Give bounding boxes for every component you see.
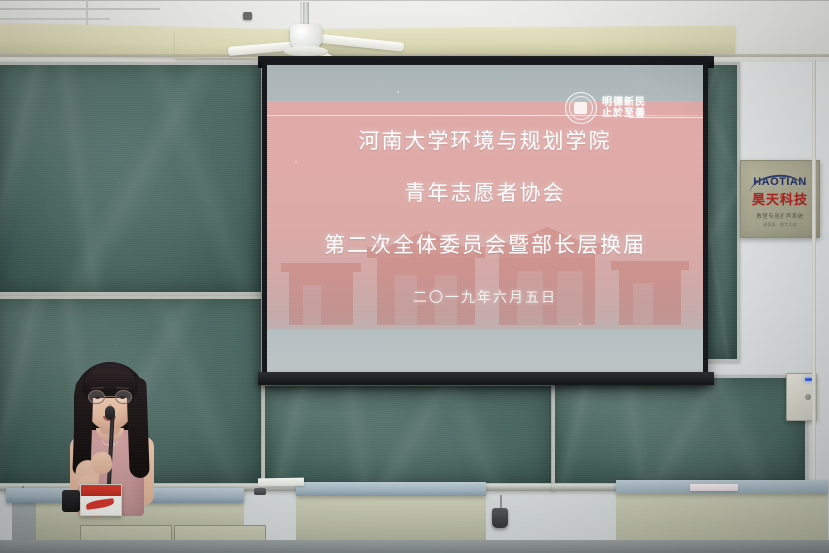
slide-date-line: 二〇一九年六月五日 [267, 287, 703, 307]
chalkboard-lower-middle [262, 383, 554, 486]
speaker-subtitle: 教室专用扩声系统 [756, 212, 803, 220]
ceiling-rail [0, 8, 160, 10]
slide-event-line: 第二次全体委员会暨部长层换届 [267, 229, 703, 259]
university-seal-icon [565, 92, 597, 124]
motto-line-2: 止於至善 [602, 108, 646, 119]
projection-screen-frame: 明德新民 止於至善 河南大学环境与规划学院 青年志愿者协会 第二次全体委员会暨部… [262, 60, 708, 385]
motto-line-1: 明德新民 [602, 97, 646, 108]
eyeglasses-icon [88, 390, 132, 404]
chalk-smudges [265, 386, 551, 483]
lectern-secondary-top [296, 482, 486, 496]
ceiling-sensor-icon [243, 12, 252, 20]
eye-left [95, 396, 100, 399]
microphone-head-icon [105, 406, 115, 420]
name-card-red-band [81, 485, 121, 496]
chalkboard-lower-right [552, 375, 808, 486]
lens-right [115, 390, 132, 404]
wall-speaker-haotian: HAOTIAN 昊天科技 教室专用扩声系统 高保真 · 数字功放 [740, 160, 820, 238]
projected-slide: 明德新民 止於至善 河南大学环境与规划学院 青年志愿者协会 第二次全体委员会暨部… [267, 65, 703, 377]
chalkboard-eraser-icon[interactable] [492, 508, 508, 528]
eyebrow-left [91, 387, 104, 390]
floor-strip [0, 540, 829, 553]
ceiling-rail-secondary [0, 18, 110, 20]
paper-stack[interactable] [258, 478, 304, 487]
eye-right [120, 396, 125, 399]
slide-gray-band-bottom [267, 329, 703, 377]
speaker-fine-print: 高保真 · 数字功放 [763, 222, 797, 228]
microphone-base-unit [62, 490, 80, 512]
slide-text-block: 河南大学环境与规划学院 青年志愿者协会 第二次全体委员会暨部长层换届 二〇一九年… [267, 125, 703, 307]
paper-sheet[interactable] [690, 484, 738, 491]
eyebrow-right [116, 387, 129, 390]
projection-screen-weight-bar [258, 372, 714, 385]
slide-dust-speck [579, 323, 581, 325]
chalkboard-upper-left [0, 62, 264, 295]
university-motto: 明德新民 止於至善 [602, 97, 646, 119]
desk-knob-icon[interactable] [254, 488, 266, 495]
classroom-photo-scene: 明德新民 止於至善 河南大学环境与规划学院 青年志愿者协会 第二次全体委员会暨部… [0, 0, 829, 553]
red-name-card [80, 484, 122, 516]
slide-association-line: 青年志愿者协会 [267, 177, 703, 207]
panel-status-led [805, 378, 812, 381]
glasses-bridge [105, 396, 115, 397]
chalk-smudges [0, 65, 261, 292]
name-card-logo-mark [86, 498, 115, 510]
slide-dust-speck [295, 161, 297, 163]
slide-university-logo: 明德新民 止於至善 [565, 91, 691, 125]
slide-organization-line: 河南大学环境与规划学院 [267, 125, 703, 155]
slide-dust-speck [397, 91, 399, 93]
eraser-hook [500, 495, 502, 509]
ceiling-fan-icon [276, 2, 336, 62]
chalk-smudges [555, 378, 805, 483]
lens-left [88, 390, 105, 404]
seal-inner-glyph [574, 102, 587, 114]
ceiling-edge-line [0, 0, 829, 1]
panel-knob-icon[interactable] [805, 394, 811, 400]
